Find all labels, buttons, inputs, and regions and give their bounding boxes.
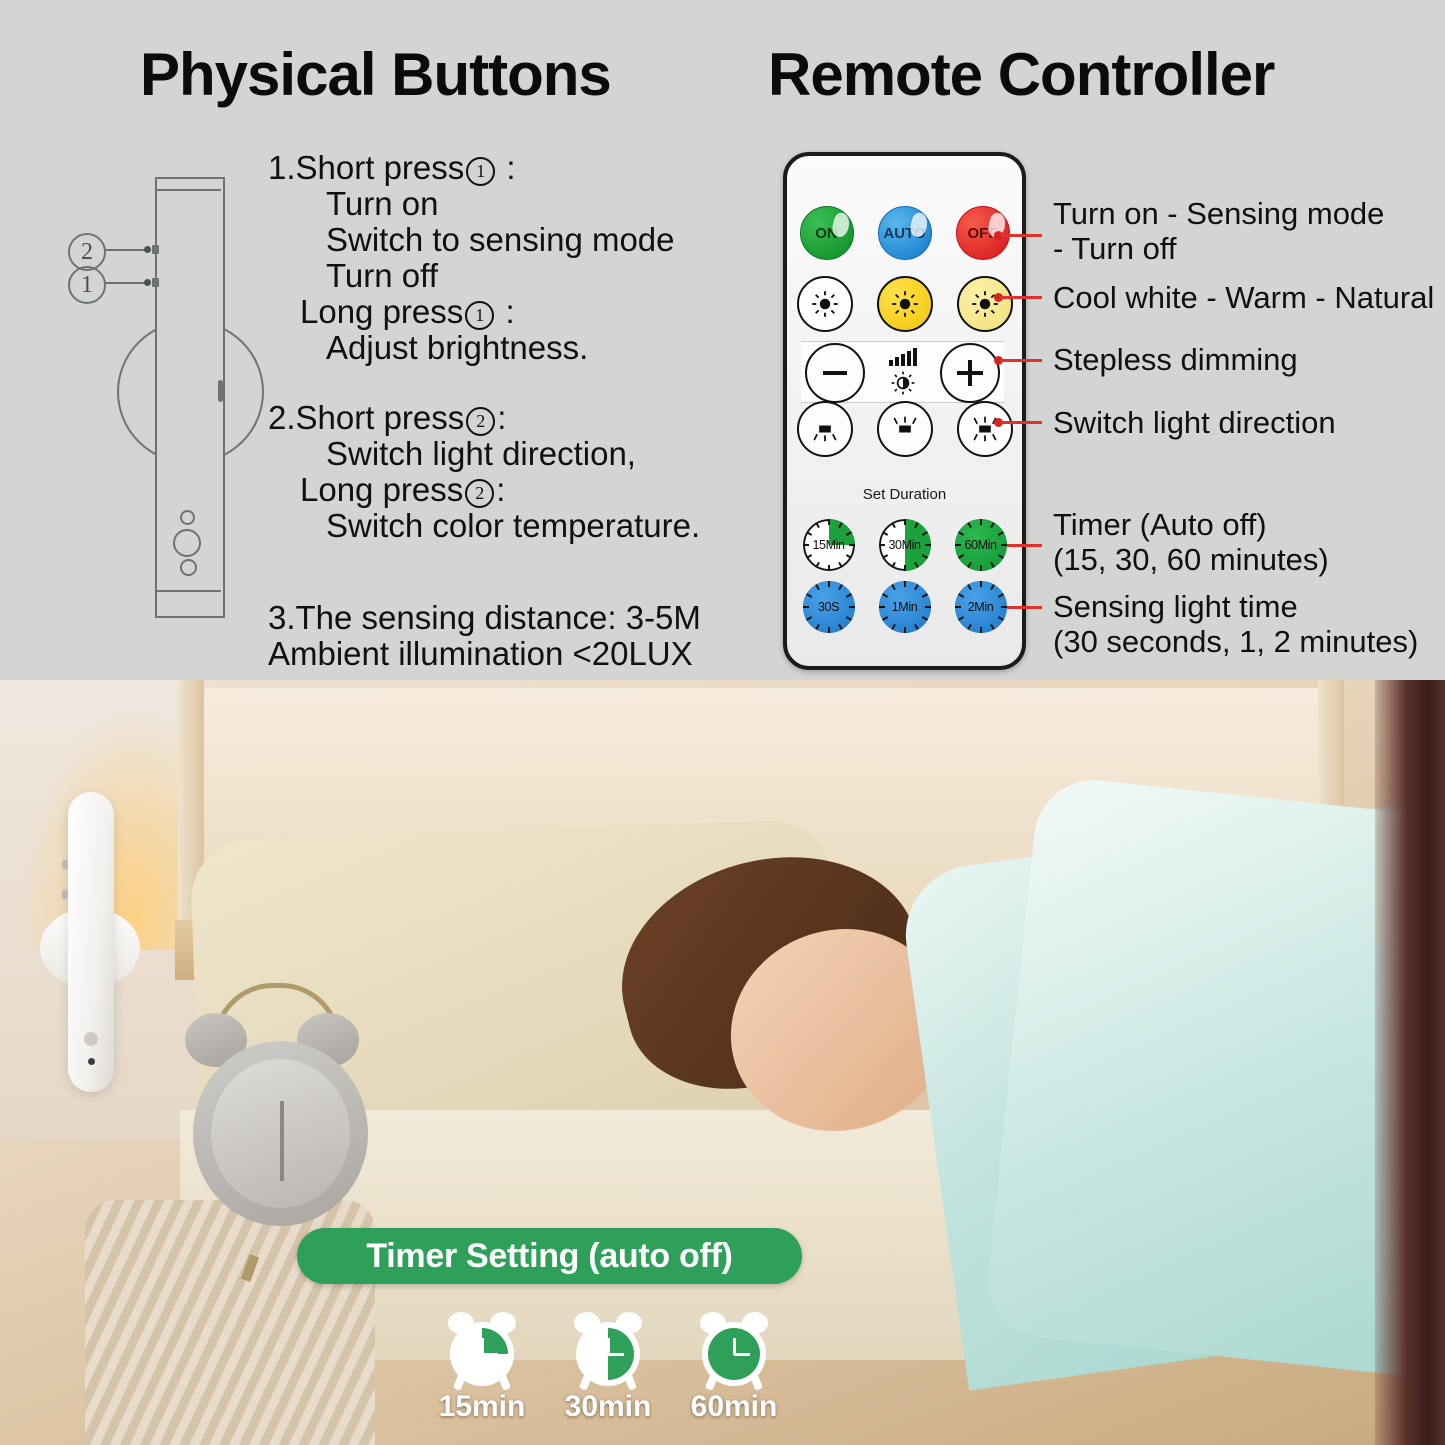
- clock-tick: [849, 606, 855, 608]
- timer-button-label: 2Min: [968, 600, 994, 614]
- remote-button-light-both[interactable]: [957, 401, 1013, 457]
- light-bar-button-1: [62, 890, 68, 899]
- alarm-clock-icon: [572, 1312, 644, 1384]
- plus-icon-vertical: [968, 360, 972, 386]
- timer-button-label: 60Min: [964, 538, 996, 552]
- leader-line-2: [105, 249, 149, 251]
- clock-tick: [904, 565, 906, 571]
- curtain: [1375, 680, 1445, 1445]
- callout-line-power: [1000, 234, 1042, 237]
- timer-icon-label: 15min: [439, 1390, 526, 1424]
- alarm-clock-icon: [446, 1312, 518, 1384]
- instruction-block-2: 2.Short press2:Switch light direction,Lo…: [268, 400, 700, 544]
- clock-tick: [955, 606, 961, 608]
- callout-line: Switch light direction: [1053, 406, 1336, 441]
- button-marker-2: 2: [465, 479, 494, 508]
- light-bar-button-2: [62, 860, 68, 869]
- timer-icon-15min: 15min: [440, 1312, 524, 1424]
- instruction-line: Ambient illumination <20LUX: [268, 636, 701, 672]
- mount-slot: [218, 380, 223, 402]
- alarm-clock-icon: [698, 1312, 770, 1384]
- clock-tick: [904, 627, 906, 633]
- timer-icon-60min: 60min: [692, 1312, 776, 1424]
- device-button-2: [152, 245, 159, 254]
- sensor-large: [173, 529, 201, 557]
- timer-button-label: 30Min: [888, 538, 920, 552]
- clock-dial: [582, 1328, 634, 1380]
- timer-setting-label: Timer Setting (auto off): [366, 1237, 732, 1276]
- clock-face: [450, 1322, 514, 1386]
- callout-color-temperature: Cool white - Warm - Natural: [1053, 281, 1434, 316]
- sensor-small-top: [180, 510, 195, 525]
- clock-dial: [456, 1328, 508, 1380]
- instruction-line: Long press1 :: [268, 294, 675, 330]
- clock-tick: [955, 544, 961, 546]
- remote-button-light-down[interactable]: [797, 401, 853, 457]
- clock-tick: [828, 565, 830, 571]
- remote-button-sensing-2min[interactable]: 2Min: [955, 581, 1007, 633]
- callout-line: (30 seconds, 1, 2 minutes): [1053, 625, 1418, 660]
- leader-line-1: [105, 282, 149, 284]
- device-diagram: 2 1: [60, 165, 280, 625]
- clock-tick: [849, 544, 855, 546]
- callout-dimming: Stepless dimming: [1053, 343, 1298, 378]
- instruction-line: Adjust brightness.: [268, 330, 675, 366]
- sun-icon: [810, 289, 840, 319]
- callout-timer: Timer (Auto off)(15, 30, 60 minutes): [1053, 508, 1329, 577]
- clock-hand-horizontal: [482, 1353, 498, 1356]
- instruction-line: 3.The sensing distance: 3-5M: [268, 600, 701, 636]
- duration-fill: [482, 1328, 508, 1354]
- clock-hand-horizontal: [734, 1353, 750, 1356]
- callout-line-color: [1000, 296, 1042, 299]
- leader-dot-2: [144, 246, 151, 253]
- callout-line: (15, 30, 60 minutes): [1053, 543, 1329, 578]
- clock-tick: [980, 581, 982, 587]
- callout-power: Turn on - Sensing mode- Turn off: [1053, 197, 1384, 266]
- callout-line: Sensing light time: [1053, 590, 1418, 625]
- timer-button-label: 15Min: [812, 538, 844, 552]
- remote-button-cool-white[interactable]: [797, 276, 853, 332]
- instruction-line: Turn on: [268, 186, 675, 222]
- light-direction-icon: [891, 415, 919, 443]
- remote-button-light-up[interactable]: [877, 401, 933, 457]
- clock-tick: [904, 581, 906, 587]
- instruction-line: Long press2:: [268, 472, 700, 508]
- clock-tick: [925, 544, 931, 546]
- clock-hand-horizontal: [608, 1353, 624, 1356]
- button-gloss: [830, 211, 851, 238]
- button-marker-2: 2: [466, 407, 495, 436]
- sensor-small-bottom: [180, 559, 197, 576]
- instruction-line: 1.Short press1 :: [268, 150, 675, 186]
- callout-line: Timer (Auto off): [1053, 508, 1329, 543]
- remote-button-timer-30min[interactable]: 30Min: [879, 519, 931, 571]
- page-title-remote-controller: Remote Controller: [768, 40, 1274, 109]
- button-marker-1: 1: [465, 301, 494, 330]
- callout-line-dimming: [1000, 359, 1042, 362]
- product-infographic: Physical Buttons Remote Controller 2 1 1…: [0, 0, 1445, 1445]
- sun-icon: [890, 289, 920, 319]
- clock-leg-left: [241, 1254, 259, 1282]
- remote-button-timer-15min[interactable]: 15Min: [803, 519, 855, 571]
- clock-tick: [925, 606, 931, 608]
- clock-tick: [980, 519, 982, 525]
- clock-tick: [879, 544, 885, 546]
- set-duration-label: Set Duration: [787, 486, 1022, 503]
- light-direction-icon: [811, 415, 839, 443]
- half-sun-icon: [890, 370, 916, 396]
- light-bar-bottom-cap: [155, 590, 221, 616]
- timer-button-label: 30S: [818, 600, 839, 614]
- timer-icon-30min: 30min: [566, 1312, 650, 1424]
- dimming-level-bars: [889, 348, 917, 366]
- clock-tick: [904, 519, 906, 525]
- clock-face: [576, 1322, 640, 1386]
- page-title-physical-buttons: Physical Buttons: [140, 40, 611, 109]
- button-gloss: [908, 211, 929, 238]
- clock-hand-hour: [280, 1133, 284, 1181]
- device-button-1: [152, 278, 159, 287]
- instruction-line: 2.Short press2:: [268, 400, 700, 436]
- remote-button-sensing-30s[interactable]: 30S: [803, 581, 855, 633]
- minus-icon: [823, 371, 847, 375]
- clock-tick: [828, 581, 830, 587]
- remote-button-sensing-1min[interactable]: 1Min: [879, 581, 931, 633]
- clock-tick: [1001, 544, 1007, 546]
- instruction-line: Switch color temperature.: [268, 508, 700, 544]
- device-marker-1: 1: [68, 266, 106, 304]
- remote-button-timer-60min[interactable]: 60Min: [955, 519, 1007, 571]
- remote-button-auto[interactable]: AUTO: [878, 206, 932, 260]
- clock-tick: [803, 606, 809, 608]
- instruction-line: Switch light direction,: [268, 436, 700, 472]
- timer-button-label: 1Min: [892, 600, 918, 614]
- callout-line: Turn on - Sensing mode: [1053, 197, 1384, 232]
- light-bar-indicator: [88, 1058, 95, 1065]
- remote-button-on[interactable]: ON: [800, 206, 854, 260]
- clock-face: [702, 1322, 766, 1386]
- instruction-line: Switch to sensing mode: [268, 222, 675, 258]
- button-marker-1: 1: [466, 157, 495, 186]
- callout-sensing-time: Sensing light time(30 seconds, 1, 2 minu…: [1053, 590, 1418, 659]
- clock-tick: [1001, 606, 1007, 608]
- light-bar-top-cap: [155, 177, 221, 191]
- callout-line: Stepless dimming: [1053, 343, 1298, 378]
- remote-button-dim-down[interactable]: [805, 343, 865, 403]
- instruction-block-1: 1.Short press1 :Turn onSwitch to sensing…: [268, 150, 675, 366]
- remote-controller-diagram: ONAUTOOFF: [783, 152, 1026, 670]
- timer-setting-banner: Timer Setting (auto off): [297, 1228, 802, 1284]
- light-bar-product: [68, 792, 114, 1092]
- instruction-block-3: 3.The sensing distance: 3-5MAmbient illu…: [268, 600, 701, 672]
- callout-line-direction: [1000, 421, 1042, 424]
- callout-line: - Turn off: [1053, 232, 1384, 267]
- clock-tick: [980, 627, 982, 633]
- instruction-line: Turn off: [268, 258, 675, 294]
- instructions-panel: Physical Buttons Remote Controller 2 1 1…: [0, 0, 1445, 685]
- remote-button-warm[interactable]: [877, 276, 933, 332]
- clock-tick: [879, 606, 885, 608]
- light-bar-sensor: [84, 1032, 98, 1046]
- callout-line: Cool white - Warm - Natural: [1053, 281, 1434, 316]
- remote-button-dim-up[interactable]: [940, 343, 1000, 403]
- remote-button-natural[interactable]: [957, 276, 1013, 332]
- timer-icon-row: 15min30min60min: [440, 1312, 780, 1424]
- clock-tick: [828, 627, 830, 633]
- clock-dial: [708, 1328, 760, 1380]
- clock-tick: [828, 519, 830, 525]
- timer-icon-label: 30min: [565, 1390, 652, 1424]
- timer-icon-label: 60min: [691, 1390, 778, 1424]
- clock-tick: [980, 565, 982, 571]
- callout-light-direction: Switch light direction: [1053, 406, 1336, 441]
- clock-tick: [803, 544, 809, 546]
- leader-dot-1: [144, 279, 151, 286]
